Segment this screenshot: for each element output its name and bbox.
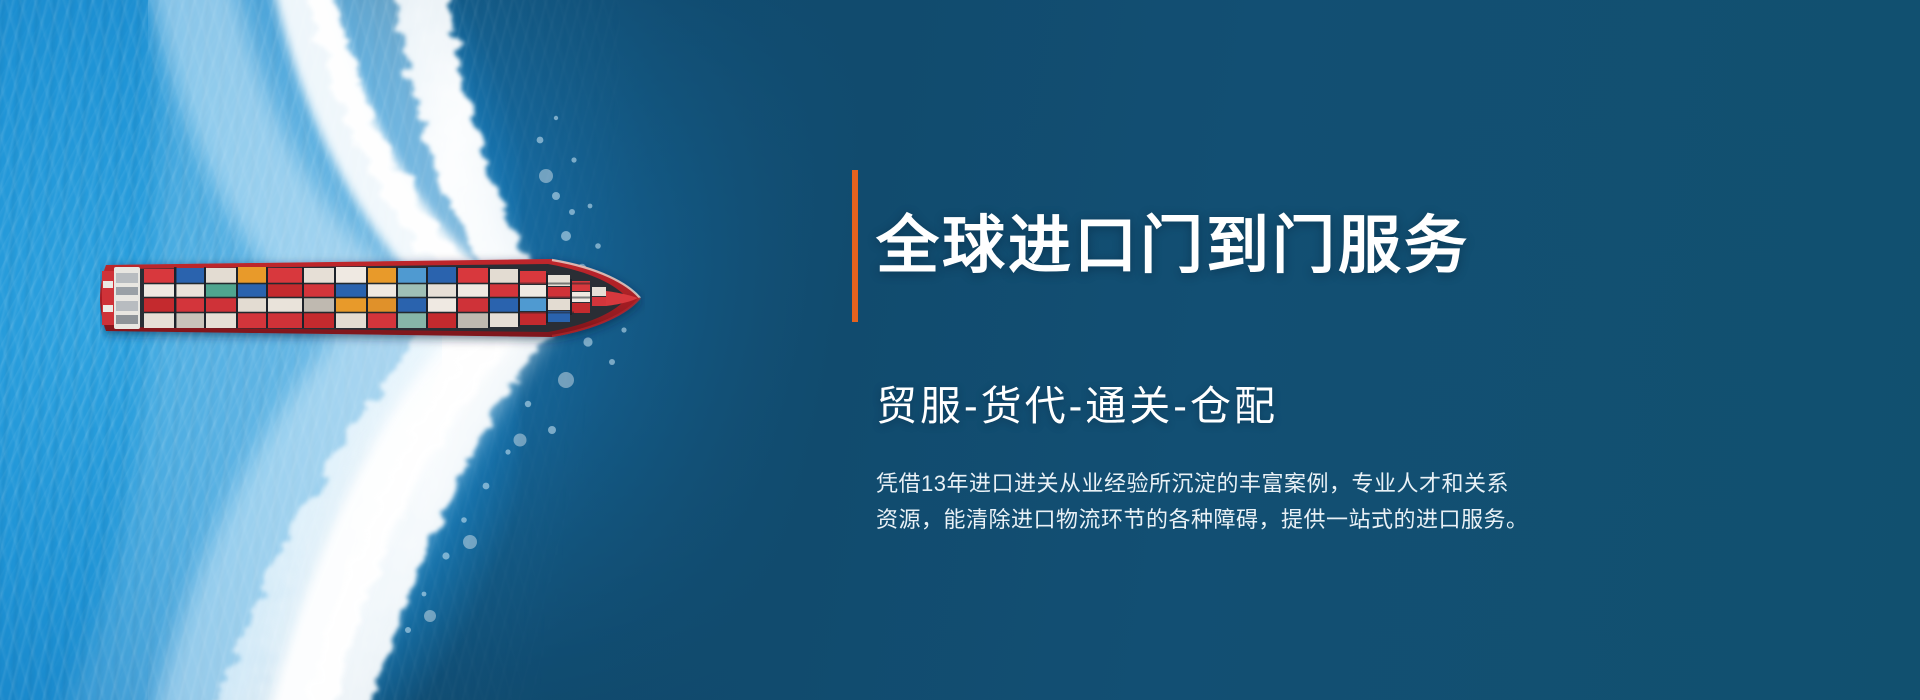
banner-description: 凭借13年进口进关从业经验所沉淀的丰富案例，专业人才和关系 资源，能清除进口物流…	[876, 466, 1576, 537]
banner-description-line-2: 资源，能清除进口物流环节的各种障碍，提供一站式的进口服务。	[876, 502, 1576, 538]
banner-subheadline: 贸服-货代-通关-仓配	[876, 372, 1572, 432]
banner-text-block: 全球进口门到门服务 贸服-货代-通关-仓配 凭借13年进口进关从业经验所沉淀的丰…	[852, 170, 1572, 560]
headline-row: 全球进口门到门服务	[852, 170, 1572, 322]
orange-accent-bar	[852, 170, 858, 322]
hero-banner: 全球进口门到门服务 贸服-货代-通关-仓配 凭借13年进口进关从业经验所沉淀的丰…	[0, 0, 1920, 700]
container-ship-image	[100, 243, 645, 353]
page-title: 全球进口门到门服务	[876, 212, 1470, 280]
banner-description-line-1: 凭借13年进口进关从业经验所沉淀的丰富案例，专业人才和关系	[876, 466, 1576, 502]
